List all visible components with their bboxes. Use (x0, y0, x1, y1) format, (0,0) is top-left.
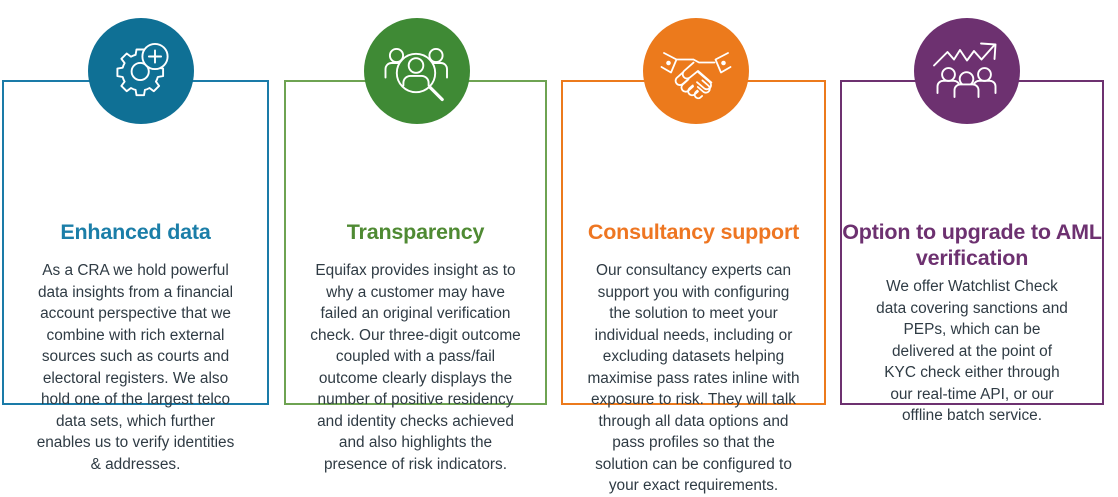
card-body-transparency: Equifax provides insight as to why a cus… (300, 260, 531, 475)
card-aml-verification: Option to upgrade to AML verification We… (840, 80, 1104, 405)
feature-cards-board: Enhanced data As a CRA we hold powerful … (0, 0, 1118, 424)
card-body-aml-verification: We offer Watchlist Check data covering s… (856, 276, 1088, 427)
gear-plus-icon (88, 18, 194, 124)
people-magnifier-icon (364, 18, 470, 124)
handshake-icon (643, 18, 749, 124)
card-enhanced-data: Enhanced data As a CRA we hold powerful … (2, 80, 269, 405)
card-body-consultancy-support: Our consultancy experts can support you … (577, 260, 810, 497)
card-title-enhanced-data: Enhanced data (4, 219, 267, 245)
card-title-aml-verification: Option to upgrade to AML verification (842, 219, 1102, 271)
card-title-transparency: Transparency (286, 219, 545, 245)
card-title-consultancy-support: Consultancy support (563, 219, 824, 245)
card-body-enhanced-data: As a CRA we hold powerful data insights … (18, 260, 253, 475)
card-consultancy-support: Consultancy support Our consultancy expe… (561, 80, 826, 405)
growth-people-icon (914, 18, 1020, 124)
card-transparency: Transparency Equifax provides insight as… (284, 80, 547, 405)
